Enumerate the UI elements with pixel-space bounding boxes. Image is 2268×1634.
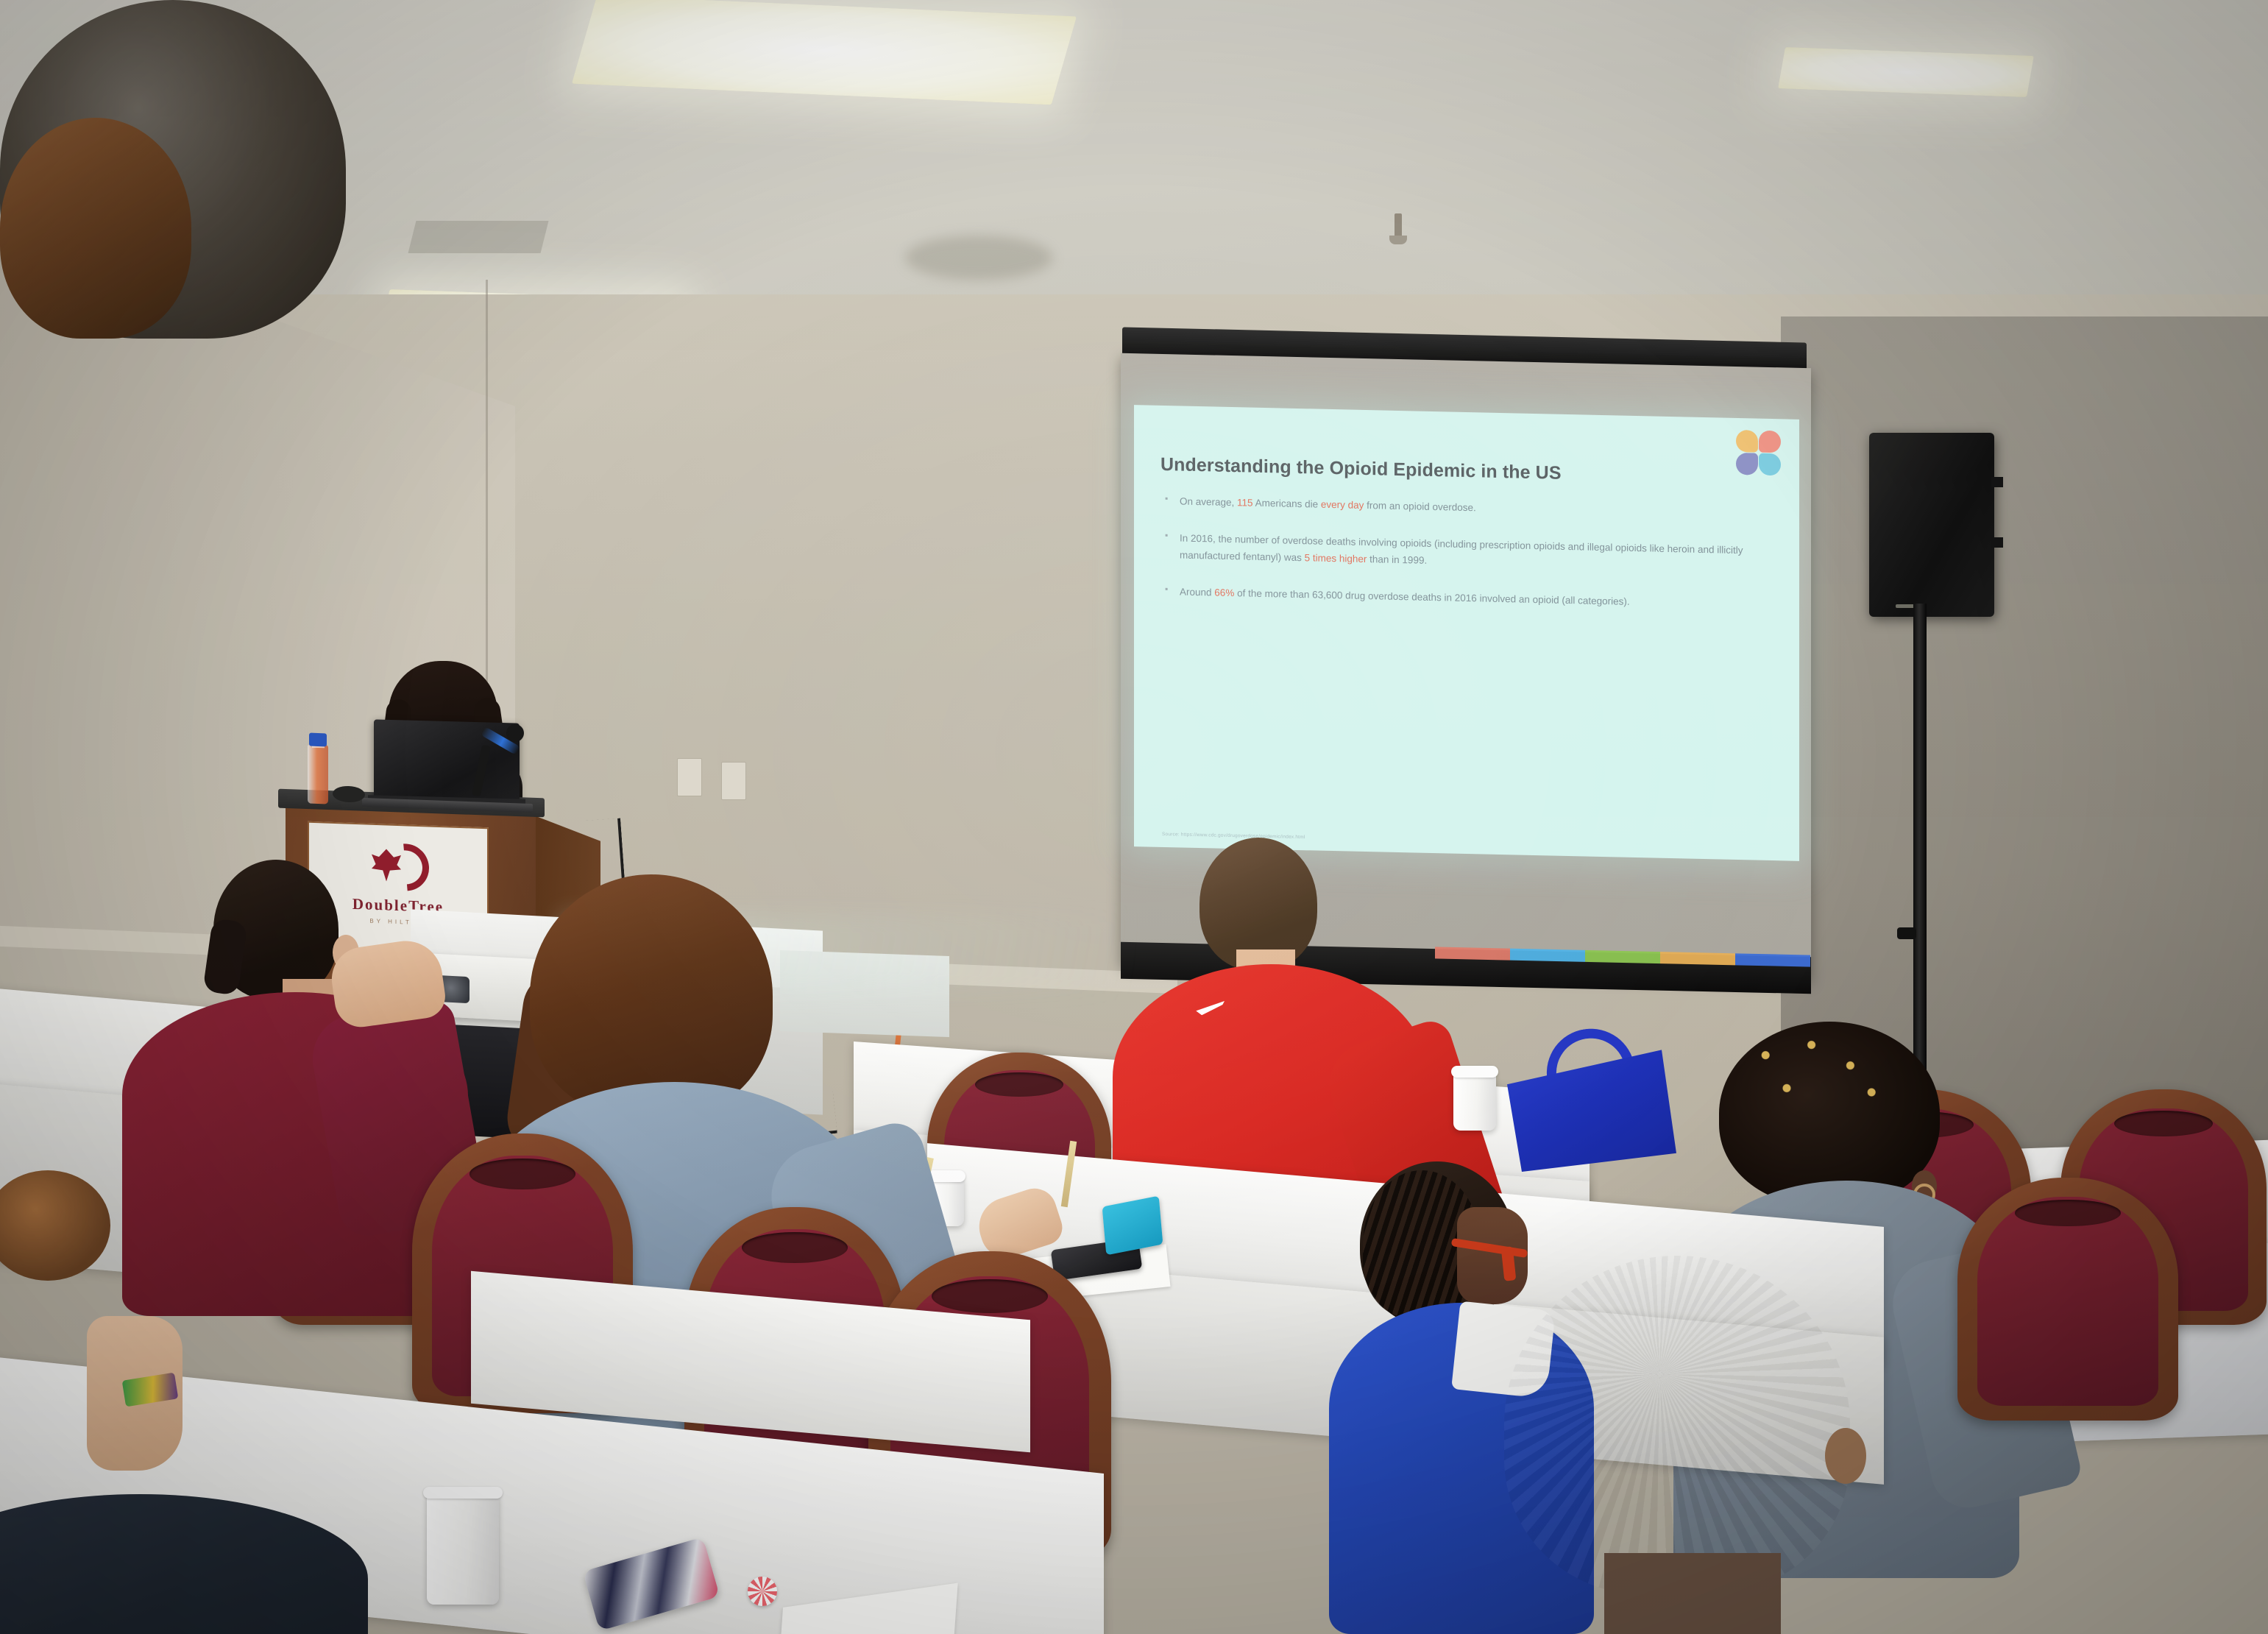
slide-highlight-text: 5 times higher: [1305, 552, 1367, 565]
attendee-hair: [0, 118, 191, 339]
slide-body-text: from an opioid overdose.: [1364, 500, 1475, 513]
wall-plate: [677, 758, 702, 796]
slide-title: Understanding the Opioid Epidemic in the…: [1160, 454, 1562, 484]
speaker-stand-knob: [1897, 927, 1916, 939]
logo-petal-top-right: [1759, 431, 1781, 453]
color-strip-segment: [1435, 947, 1510, 960]
attendee-neck: [1604, 1553, 1781, 1634]
slide-bullet: Around 66% of the more than 63,600 drug …: [1160, 583, 1770, 614]
pa-speaker-bracket: [1991, 537, 2003, 548]
peppermint-candy: [748, 1577, 777, 1606]
projected-slide: Understanding the Opioid Epidemic in the…: [1134, 405, 1799, 861]
ceiling-light-panel: [572, 0, 1077, 105]
logo-petal-top-left: [1736, 430, 1758, 453]
slide-highlight-text: 115: [1237, 497, 1253, 508]
ceiling-vent: [408, 221, 549, 253]
coffee-cup: [427, 1494, 499, 1605]
laptop-screen[interactable]: [374, 719, 520, 802]
wall-plate: [721, 762, 746, 800]
slide-highlight-text: every day: [1321, 499, 1364, 511]
sprinkler-head-icon: [1395, 213, 1402, 240]
water-bottle: [308, 745, 328, 804]
coffee-cup: [1453, 1073, 1496, 1131]
slide-body-text: On average,: [1180, 495, 1237, 508]
slide-bullet: On average, 115 Americans die every day …: [1160, 492, 1770, 523]
slide-body-text: In 2016, the number of overdose deaths i…: [1180, 532, 1743, 563]
speaker-stand-pole: [1913, 604, 1927, 1119]
slide-bullet: In 2016, the number of overdose deaths i…: [1160, 529, 1770, 577]
pa-speaker-bracket: [1991, 477, 2003, 487]
slide-body-text: Around: [1180, 586, 1214, 598]
microphone-head: [506, 724, 524, 742]
slide-source-note: Source: https://www.cdc.gov/drugoverdose…: [1162, 832, 1305, 840]
slide-body-text: than in 1999.: [1367, 553, 1427, 566]
color-strip-segment: [1585, 950, 1660, 963]
color-strip-segment: [1735, 953, 1810, 966]
four-petal-flower-logo: [1736, 430, 1782, 476]
ceiling-light-panel: [1778, 47, 2034, 97]
attendee-foreground-left: [0, 118, 191, 339]
hair-beads: [1734, 1030, 1910, 1133]
banquet-chair: [1957, 1178, 2178, 1421]
attendee-hair-texture: [1504, 1256, 1850, 1594]
conference-room-photo: Understanding the Opioid Epidemic in the…: [0, 0, 2268, 1634]
slide-bullet-list: On average, 115 Americans die every day …: [1160, 492, 1770, 633]
color-strip-segment: [1510, 949, 1585, 962]
slide-body-text: of the more than 63,600 drug overdose de…: [1234, 587, 1629, 607]
pa-speaker: [1869, 433, 1994, 617]
attendee-hair-auburn: [530, 874, 773, 1117]
ceiling-stain: [905, 236, 1052, 280]
logo-petal-bottom-left: [1736, 453, 1758, 475]
attendee-ear: [1825, 1428, 1866, 1484]
water-bottle-cap: [309, 733, 327, 747]
slide-body-text: Americans die: [1253, 498, 1321, 510]
slide-highlight-text: 66%: [1214, 587, 1234, 598]
color-strip-segment: [1660, 952, 1735, 965]
logo-petal-bottom-right: [1759, 453, 1781, 476]
doubletree-logo-icon: [367, 840, 429, 898]
